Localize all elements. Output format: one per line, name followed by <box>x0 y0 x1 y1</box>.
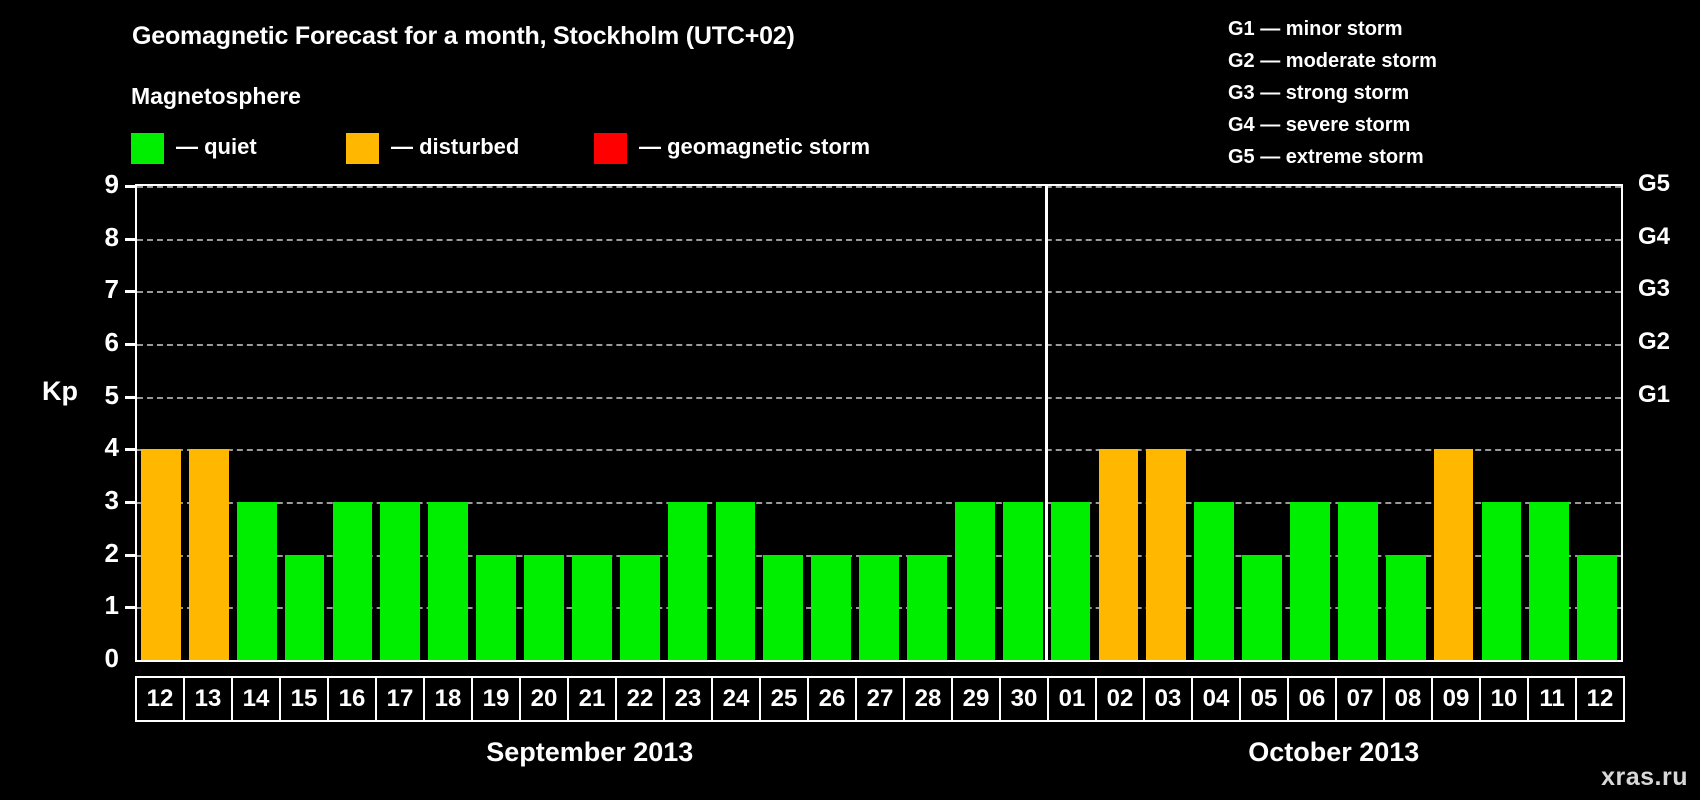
bar-cell-27[interactable] <box>855 186 903 660</box>
gscale-legend: G1 — minor storm G2 — moderate storm G3 … <box>1228 13 1437 173</box>
bar-cell-03[interactable] <box>1142 186 1190 660</box>
date-label-15[interactable]: 15 <box>279 676 329 722</box>
bar-15[interactable] <box>285 555 325 660</box>
y-tick-label-8: 8 <box>79 222 119 253</box>
date-label-04[interactable]: 04 <box>1191 676 1241 722</box>
bar-05[interactable] <box>1242 555 1282 660</box>
date-axis-row: 1213141516171819202122232425262728293001… <box>135 676 1623 722</box>
chart-header: Geomagnetic Forecast for a month, Stockh… <box>0 0 1700 170</box>
bar-09[interactable] <box>1434 449 1474 660</box>
g-tick-label-G3: G3 <box>1638 275 1698 303</box>
gscale-row-g2: G2 — moderate storm <box>1228 45 1437 77</box>
bar-16[interactable] <box>333 502 373 660</box>
bar-19[interactable] <box>476 555 516 660</box>
date-label-23[interactable]: 23 <box>663 676 713 722</box>
bar-11[interactable] <box>1529 502 1569 660</box>
bar-cell-04[interactable] <box>1190 186 1238 660</box>
bar-10[interactable] <box>1482 502 1522 660</box>
g-tick-label-G2: G2 <box>1638 328 1698 356</box>
date-label-10[interactable]: 10 <box>1479 676 1529 722</box>
bar-14[interactable] <box>237 502 277 660</box>
date-label-22[interactable]: 22 <box>615 676 665 722</box>
bar-27[interactable] <box>859 555 899 660</box>
bar-cell-30[interactable] <box>999 186 1047 660</box>
date-label-03[interactable]: 03 <box>1143 676 1193 722</box>
date-label-29[interactable]: 29 <box>951 676 1001 722</box>
date-label-16[interactable]: 16 <box>327 676 377 722</box>
bar-03[interactable] <box>1146 449 1186 660</box>
y-axis-title: Kp <box>42 376 78 407</box>
date-label-06[interactable]: 06 <box>1287 676 1337 722</box>
bar-cell-23[interactable] <box>664 186 712 660</box>
bar-cell-15[interactable] <box>281 186 329 660</box>
date-label-11[interactable]: 11 <box>1527 676 1577 722</box>
watermark: xras.ru <box>1601 763 1688 792</box>
bar-07[interactable] <box>1338 502 1378 660</box>
date-label-28[interactable]: 28 <box>903 676 953 722</box>
bar-28[interactable] <box>907 555 947 660</box>
bar-cell-26[interactable] <box>807 186 855 660</box>
storm-swatch <box>594 133 627 164</box>
g-tick-label-G5: G5 <box>1638 170 1698 198</box>
bar-cell-12[interactable] <box>137 186 185 660</box>
bar-cell-22[interactable] <box>616 186 664 660</box>
bar-13[interactable] <box>189 449 229 660</box>
gscale-row-g5: G5 — extreme storm <box>1228 141 1437 173</box>
legend-item-quiet: — quiet <box>131 133 257 165</box>
y-tick-label-9: 9 <box>79 169 119 200</box>
y-tick-label-0: 0 <box>79 643 119 674</box>
date-label-18[interactable]: 18 <box>423 676 473 722</box>
bar-24[interactable] <box>716 502 756 660</box>
bar-21[interactable] <box>572 555 612 660</box>
y-tick-label-7: 7 <box>79 274 119 305</box>
month-caption-october: October 2013 <box>1045 737 1623 768</box>
bar-cell-18[interactable] <box>424 186 472 660</box>
y-tick-label-1: 1 <box>79 590 119 621</box>
bar-cell-21[interactable] <box>568 186 616 660</box>
date-label-14[interactable]: 14 <box>231 676 281 722</box>
chart-plot-area <box>135 184 1623 662</box>
legend-label-quiet: — quiet <box>176 134 257 160</box>
y-tick-label-5: 5 <box>79 380 119 411</box>
bar-cell-07[interactable] <box>1334 186 1382 660</box>
bar-30[interactable] <box>1003 502 1043 660</box>
bar-18[interactable] <box>428 502 468 660</box>
date-label-20[interactable]: 20 <box>519 676 569 722</box>
page-title: Geomagnetic Forecast for a month, Stockh… <box>132 22 795 51</box>
bar-cell-20[interactable] <box>520 186 568 660</box>
gscale-row-g3: G3 — strong storm <box>1228 77 1437 109</box>
bar-cell-28[interactable] <box>903 186 951 660</box>
y-tick-label-6: 6 <box>79 327 119 358</box>
date-label-12[interactable]: 12 <box>135 676 185 722</box>
bar-22[interactable] <box>620 555 660 660</box>
date-label-02[interactable]: 02 <box>1095 676 1145 722</box>
date-label-08[interactable]: 08 <box>1383 676 1433 722</box>
month-divider-line <box>1045 186 1048 660</box>
bar-08[interactable] <box>1386 555 1426 660</box>
bar-cell-12[interactable] <box>1573 186 1621 660</box>
bar-25[interactable] <box>763 555 803 660</box>
bar-17[interactable] <box>380 502 420 660</box>
y-tick-label-3: 3 <box>79 485 119 516</box>
g-tick-label-G1: G1 <box>1638 381 1698 409</box>
bar-cell-19[interactable] <box>472 186 520 660</box>
y-tick-label-2: 2 <box>79 538 119 569</box>
bar-29[interactable] <box>955 502 995 660</box>
quiet-swatch <box>131 133 164 164</box>
month-caption-september: September 2013 <box>135 737 1045 768</box>
date-label-12[interactable]: 12 <box>1575 676 1625 722</box>
date-label-21[interactable]: 21 <box>567 676 617 722</box>
bar-02[interactable] <box>1099 449 1139 660</box>
bar-cell-14[interactable] <box>233 186 281 660</box>
bar-cell-24[interactable] <box>712 186 760 660</box>
legend-label-disturbed: — disturbed <box>391 134 519 160</box>
bar-04[interactable] <box>1194 502 1234 660</box>
date-label-09[interactable]: 09 <box>1431 676 1481 722</box>
disturbed-swatch <box>346 133 379 164</box>
gscale-row-g4: G4 — severe storm <box>1228 109 1437 141</box>
bar-cell-09[interactable] <box>1430 186 1478 660</box>
date-label-25[interactable]: 25 <box>759 676 809 722</box>
date-label-07[interactable]: 07 <box>1335 676 1385 722</box>
date-label-01[interactable]: 01 <box>1047 676 1097 722</box>
bar-cell-17[interactable] <box>376 186 424 660</box>
date-label-19[interactable]: 19 <box>471 676 521 722</box>
date-label-27[interactable]: 27 <box>855 676 905 722</box>
date-label-13[interactable]: 13 <box>183 676 233 722</box>
bar-cell-10[interactable] <box>1478 186 1526 660</box>
date-label-24[interactable]: 24 <box>711 676 761 722</box>
plot-inner <box>137 186 1621 660</box>
legend-item-storm: — geomagnetic storm <box>594 133 870 165</box>
bar-26[interactable] <box>811 555 851 660</box>
bar-06[interactable] <box>1290 502 1330 660</box>
date-label-26[interactable]: 26 <box>807 676 857 722</box>
date-label-30[interactable]: 30 <box>999 676 1049 722</box>
bar-cell-11[interactable] <box>1525 186 1573 660</box>
gscale-row-g1: G1 — minor storm <box>1228 13 1437 45</box>
bar-cell-13[interactable] <box>185 186 233 660</box>
bar-cell-06[interactable] <box>1286 186 1334 660</box>
bar-12[interactable] <box>141 449 181 660</box>
bar-series <box>137 186 1621 660</box>
bar-12[interactable] <box>1577 555 1617 660</box>
g-tick-label-G4: G4 <box>1638 223 1698 251</box>
magnetosphere-subtitle: Magnetosphere <box>131 83 301 110</box>
bar-01[interactable] <box>1051 502 1091 660</box>
bar-20[interactable] <box>524 555 564 660</box>
bar-cell-25[interactable] <box>759 186 807 660</box>
bar-cell-16[interactable] <box>329 186 377 660</box>
bar-cell-29[interactable] <box>951 186 999 660</box>
bar-cell-08[interactable] <box>1382 186 1430 660</box>
legend-label-storm: — geomagnetic storm <box>639 134 870 160</box>
y-tick-label-4: 4 <box>79 432 119 463</box>
bar-cell-05[interactable] <box>1238 186 1286 660</box>
bar-23[interactable] <box>668 502 708 660</box>
legend-item-disturbed: — disturbed <box>346 133 519 165</box>
date-label-05[interactable]: 05 <box>1239 676 1289 722</box>
date-label-17[interactable]: 17 <box>375 676 425 722</box>
bar-cell-02[interactable] <box>1095 186 1143 660</box>
bar-cell-01[interactable] <box>1047 186 1095 660</box>
